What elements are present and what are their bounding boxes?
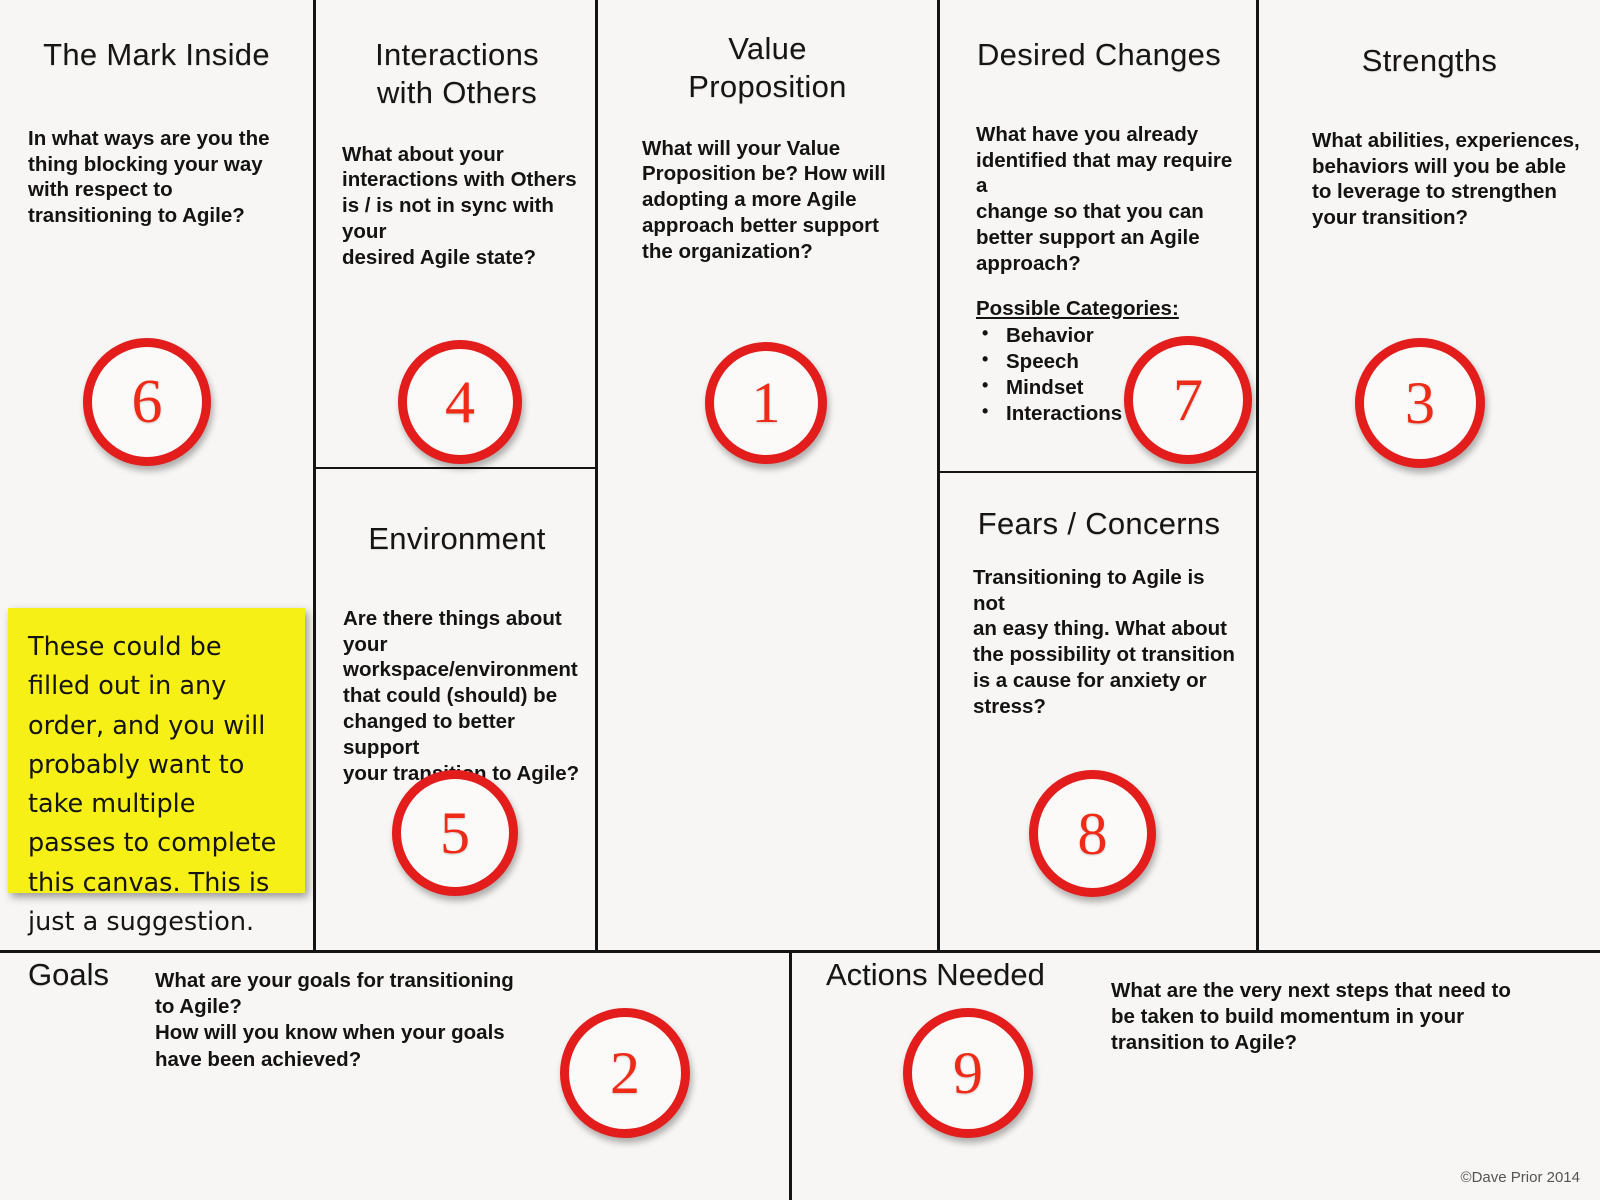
step-circle-2[interactable]: 2 — [560, 1008, 690, 1138]
step-number-4: 4 — [445, 372, 475, 432]
panel-body-interactions-with-others: What about your interactions with Others… — [342, 142, 592, 271]
panel-title-goals: Goals — [28, 957, 109, 993]
copyright-notice: ©Dave Prior 2014 — [1461, 1169, 1580, 1186]
step-number-9: 9 — [953, 1043, 983, 1103]
panel-title-the-mark-inside: The Mark Inside — [0, 36, 313, 74]
panel-body-desired-changes: What have you already identified that ma… — [976, 122, 1238, 277]
sticky-note-suggestion: These could be filled out in any order, … — [8, 608, 305, 893]
panel-title-actions-needed: Actions Needed — [826, 957, 1045, 993]
panel-title-strengths: Strengths — [1259, 42, 1600, 80]
agile-transition-canvas: The Mark Inside In what ways are you the… — [0, 0, 1600, 1200]
panel-the-mark-inside: The Mark Inside In what ways are you the… — [0, 36, 313, 229]
step-number-2: 2 — [610, 1043, 640, 1103]
panel-title-fears-concerns: Fears / Concerns — [940, 505, 1258, 543]
step-circle-3[interactable]: 3 — [1355, 338, 1485, 468]
panel-title-environment: Environment — [316, 520, 598, 558]
panel-body-fears-concerns: Transitioning to Agile is not an easy th… — [973, 565, 1235, 720]
step-number-5: 5 — [440, 803, 470, 863]
step-circle-7[interactable]: 7 — [1124, 336, 1252, 464]
bottom-band-divider — [0, 950, 1600, 953]
step-circle-4[interactable]: 4 — [398, 340, 522, 464]
step-number-1: 1 — [752, 374, 781, 432]
bottom-band-column-divider — [789, 950, 792, 1200]
panel-title-value-proposition: Value Proposition — [598, 30, 937, 106]
panel-value-proposition: Value Proposition What will your Value P… — [598, 30, 937, 265]
panel-body-the-mark-inside: In what ways are you the thing blocking … — [28, 126, 278, 229]
panel-strengths: Strengths What abilities, experiences, b… — [1259, 42, 1600, 231]
desired-fears-divider — [937, 471, 1259, 473]
step-circle-1[interactable]: 1 — [705, 342, 827, 464]
step-circle-5[interactable]: 5 — [392, 770, 518, 896]
step-circle-6[interactable]: 6 — [83, 338, 211, 466]
panel-body-environment: Are there things about your workspace/en… — [343, 606, 595, 787]
step-number-8: 8 — [1078, 804, 1108, 864]
panel-environment: Environment Are there things about your … — [316, 520, 598, 787]
panel-body-actions-needed: What are the very next steps that need t… — [1111, 978, 1591, 1057]
sticky-note-text: These could be filled out in any order, … — [28, 628, 287, 942]
step-number-6: 6 — [132, 371, 163, 433]
panel-body-strengths: What abilities, experiences, behaviors w… — [1312, 128, 1584, 231]
step-circle-8[interactable]: 8 — [1029, 770, 1156, 897]
interactions-environment-divider — [313, 467, 598, 469]
panel-title-interactions-with-others: Interactions with Others — [316, 36, 598, 112]
panel-interactions-with-others: Interactions with Others What about your… — [316, 36, 598, 271]
panel-fears-concerns: Fears / Concerns Transitioning to Agile … — [940, 505, 1258, 720]
panel-title-desired-changes: Desired Changes — [940, 36, 1258, 74]
step-number-3: 3 — [1405, 373, 1435, 433]
possible-categories-heading: Possible Categories: — [976, 297, 1258, 321]
step-number-7: 7 — [1173, 370, 1203, 430]
step-circle-9[interactable]: 9 — [903, 1008, 1033, 1138]
panel-body-value-proposition: What will your Value Proposition be? How… — [642, 136, 904, 265]
